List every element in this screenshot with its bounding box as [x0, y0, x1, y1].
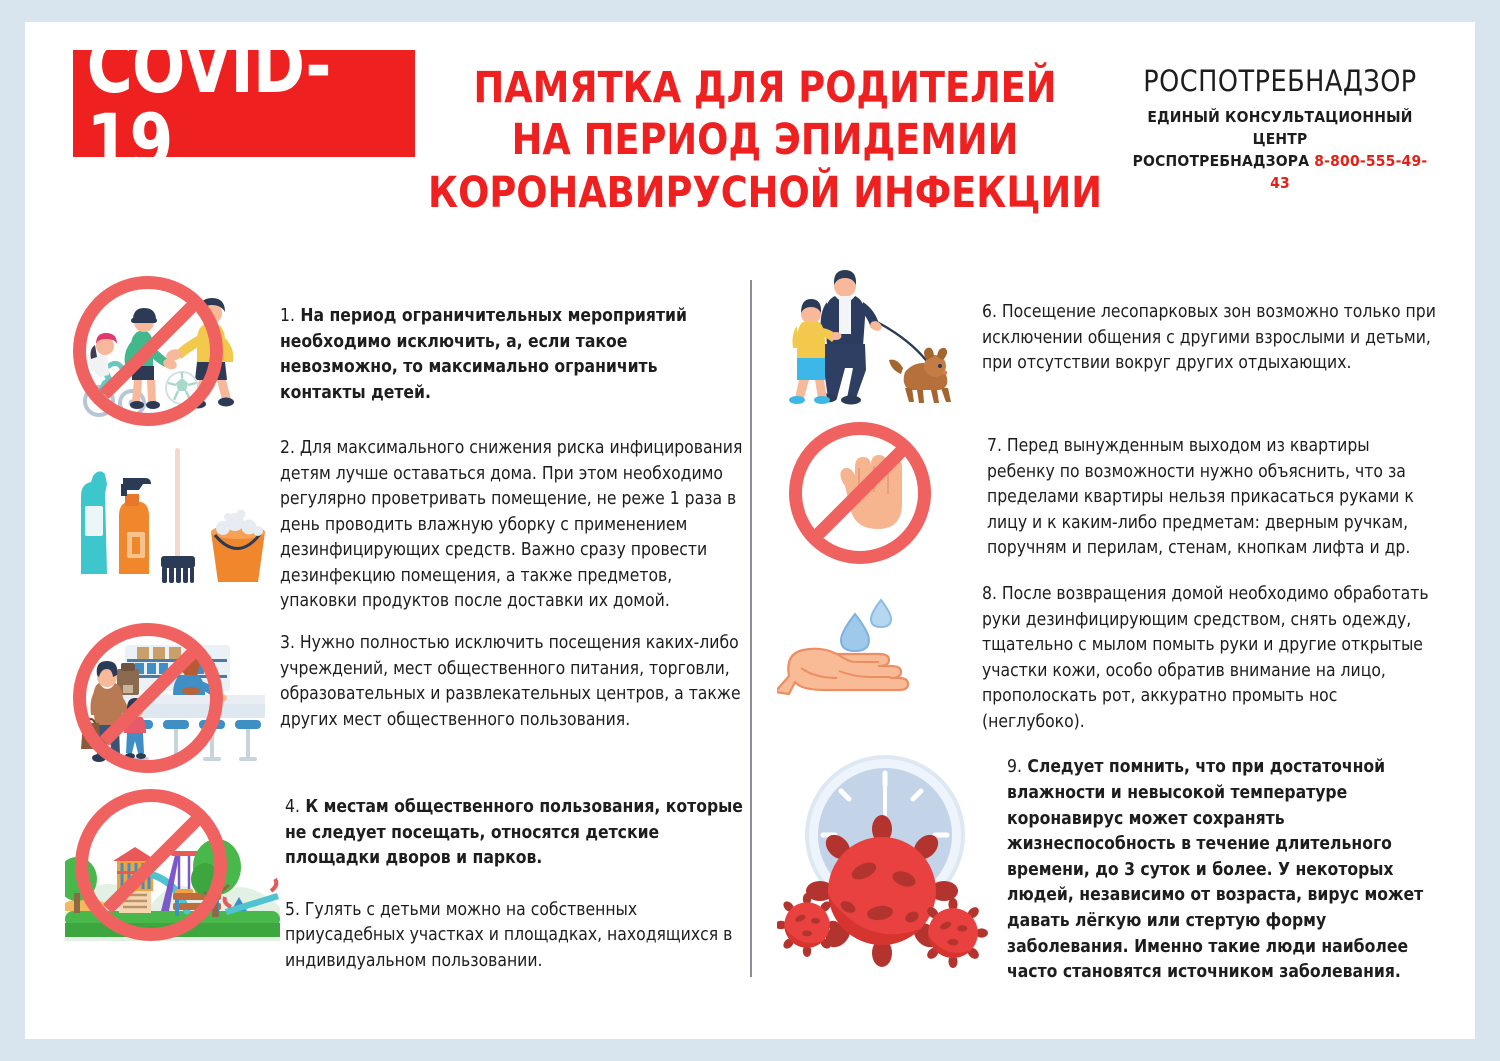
list-item-text: 9. Следует помнить, что при достаточной … [1007, 755, 1437, 985]
list-item: 7. Перед вынужденным выходом из квартиры… [777, 418, 1437, 568]
children-playing-prohibited-icon [65, 270, 270, 430]
organization-subtitle: ЕДИНЫЙ КОНСУЛЬТАЦИОННЫЙ ЦЕНТР РОСПОТРЕБН… [1125, 106, 1435, 194]
organization-subtitle-line-1: ЕДИНЫЙ КОНСУЛЬТАЦИОННЫЙ ЦЕНТР [1125, 106, 1435, 150]
family-walking-dog-icon [777, 270, 957, 410]
page-title-line-3: КОРОНАВИРУСНОЙ ИНФЕКЦИИ [423, 167, 1107, 219]
list-item-text: 1. На период ограничительных мероприятий… [280, 304, 745, 406]
list-item: 1. На период ограничительных мероприятий… [65, 270, 745, 430]
list-item-body: К местам общественного пользования, кото… [285, 797, 743, 868]
poster: COVID-19 ПАМЯТКА ДЛЯ РОДИТЕЛЕЙ НА ПЕРИОД… [25, 22, 1475, 1039]
list-item: 3. Нужно полностью исключить посещения к… [65, 619, 745, 779]
list-item-text: 4. К местам общественного пользования, к… [285, 795, 745, 872]
cleaning-supplies-icon [65, 436, 270, 596]
covid19-badge-label: COVID-19 [87, 28, 402, 180]
list-item-body: Следует помнить, что при достаточной вла… [1007, 757, 1423, 982]
covid19-badge: COVID-19 [73, 50, 415, 157]
list-item-text: 5. Гулять с детьми можно на собственных … [285, 898, 745, 975]
list-item-body: На период ограничительных мероприятий не… [280, 306, 687, 403]
list-item-number: 6. [982, 302, 997, 322]
list-item-number: 7. [987, 436, 1002, 456]
list-item-text: 6. Посещение лесопарковых зон возможно т… [982, 300, 1437, 377]
list-item: 6. Посещение лесопарковых зон возможно т… [777, 270, 1437, 410]
organization-block: РОСПОТРЕБНАДЗОР ЕДИНЫЙ КОНСУЛЬТАЦИОННЫЙ … [1125, 64, 1435, 194]
list-item: 4. К местам общественного пользования, к… [65, 783, 745, 974]
organization-subtitle-line-2: РОСПОТРЕБНАДЗОРА [1133, 152, 1310, 170]
playground-prohibited-icon [65, 783, 280, 953]
list-item-text: 2. Для максимального снижения риска инфи… [280, 436, 745, 615]
left-column: 1. На период ограничительных мероприятий… [65, 270, 745, 975]
list-item-text: 3. Нужно полностью исключить посещения к… [280, 631, 745, 733]
page-title-line-2: НА ПЕРИОД ЭПИДЕМИИ [423, 114, 1107, 166]
list-item-text: 7. Перед вынужденным выходом из квартиры… [987, 434, 1437, 562]
hand-touch-prohibited-icon [777, 418, 962, 568]
list-item-text: 8. После возвращения домой необходимо об… [982, 582, 1437, 735]
hand-washing-icon [777, 576, 957, 721]
list-item-body: Для максимального снижения риска инфицир… [280, 438, 742, 611]
list-item-number: 3. [280, 633, 295, 653]
cafe-prohibited-icon [65, 619, 270, 779]
list-item-body: Гулять с детьми можно на собственных при… [285, 900, 732, 971]
list-item-body: Перед вынужденным выходом из квартиры ре… [987, 436, 1414, 558]
list-item-body: После возвращения домой необходимо обраб… [982, 584, 1429, 732]
list-item: 9. Следует помнить, что при достаточной … [777, 743, 1437, 985]
list-item: 2. Для максимального снижения риска инфи… [65, 436, 745, 615]
list-item-number: 2. [280, 438, 295, 458]
column-divider [750, 280, 752, 977]
organization-name: РОСПОТРЕБНАДЗОР [1128, 64, 1432, 98]
list-item-number: 5. [285, 900, 300, 920]
page-title-line-1: ПАМЯТКА ДЛЯ РОДИТЕЛЕЙ [423, 62, 1107, 114]
list-item-number: 9. [1007, 757, 1022, 777]
list-item: 8. После возвращения домой необходимо об… [777, 576, 1437, 735]
list-item-body: Нужно полностью исключить посещения каки… [280, 633, 741, 730]
list-item-number: 8. [982, 584, 997, 604]
poster-header: COVID-19 ПАМЯТКА ДЛЯ РОДИТЕЛЕЙ НА ПЕРИОД… [25, 22, 1475, 262]
list-item-number: 1. [280, 306, 295, 326]
right-column: 6. Посещение лесопарковых зон возможно т… [777, 270, 1437, 986]
clock-virus-icon [777, 743, 992, 968]
list-item-number: 4. [285, 797, 300, 817]
list-item-body: Посещение лесопарковых зон возможно толь… [982, 302, 1436, 373]
page-title: ПАМЯТКА ДЛЯ РОДИТЕЛЕЙ НА ПЕРИОД ЭПИДЕМИИ… [405, 62, 1125, 219]
